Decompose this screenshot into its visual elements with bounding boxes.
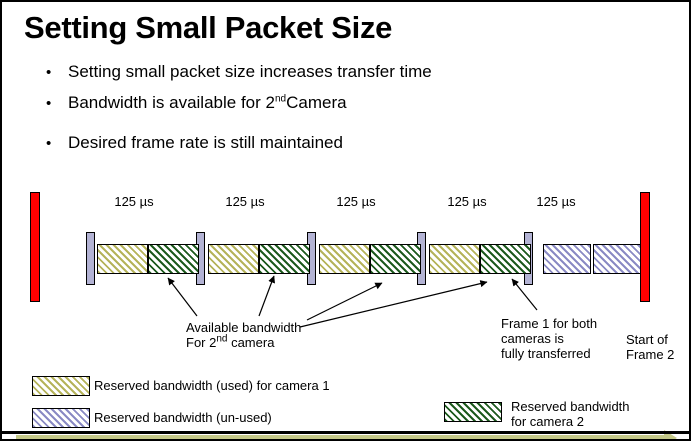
callout-line-2: cameras is (501, 331, 597, 346)
interval-label-3: 125 µs (320, 194, 392, 209)
bullet-text: Setting small packet size increases tran… (68, 62, 432, 82)
legend-divider (2, 431, 689, 434)
legend-label-line-1: Reserved bandwidth (511, 399, 630, 414)
bullet-marker: • (46, 64, 68, 81)
bullet-item-2: •Bandwidth is available for 2nd Camera (46, 93, 347, 113)
interval-label-4: 125 µs (431, 194, 503, 209)
legend-swatch-khaki (32, 376, 90, 396)
interval-label-1: 125 µs (98, 194, 170, 209)
packet-block-reserved-cam1 (319, 244, 370, 274)
frame-start-marker-1 (30, 192, 40, 302)
packet-block-reserved-cam2 (259, 244, 310, 274)
frame-start-marker-2 (640, 192, 650, 302)
callout-available-bandwidth: Available bandwidth For 2nd camera (186, 320, 301, 350)
interval-label-2: 125 µs (209, 194, 281, 209)
bullet-marker: • (46, 135, 68, 152)
packet-block-reserved-cam2 (480, 244, 531, 274)
ordinal-suffix: nd (275, 93, 286, 104)
bullet-text-before: Bandwidth is available for 2 (68, 93, 275, 113)
legend-swatch-blue (32, 408, 90, 428)
ordinal-suffix: nd (216, 334, 227, 345)
packet-boundary-1 (86, 232, 95, 285)
callout-line-1: Frame 1 for both (501, 316, 597, 331)
page-title: Setting Small Packet Size (24, 10, 392, 46)
packet-block-reserved-cam2 (148, 244, 199, 274)
legend-label-line-2: for camera 2 (511, 414, 584, 429)
callout-line-1: Available bandwidth (186, 320, 301, 335)
callout-line-2: Frame 2 (626, 347, 674, 362)
bullet-text: Desired frame rate is still maintained (68, 133, 343, 153)
callout-line-2-before: For 2 (186, 335, 216, 350)
legend-swatch-green (444, 402, 502, 422)
packet-block-reserved-cam1 (208, 244, 259, 274)
callout-frame1-transferred: Frame 1 for both cameras is fully transf… (501, 316, 597, 361)
legend-label: Reserved bandwidth (used) for camera 1 (94, 378, 330, 393)
bullet-marker: • (46, 95, 68, 112)
packet-block-reserved-cam1 (97, 244, 148, 274)
packet-block-unused (543, 244, 591, 274)
bullet-text-after: Camera (286, 93, 346, 113)
timeline-diagram: 125 µs 125 µs 125 µs 125 µs 125 µs (2, 180, 689, 310)
legend-label: Reserved bandwidth (un-used) (94, 410, 272, 425)
callout-start-of-frame2: Start of Frame 2 (626, 332, 674, 362)
interval-label-5: 125 µs (520, 194, 592, 209)
bullet-item-1: •Setting small packet size increases tra… (46, 62, 432, 82)
bullet-item-3: •Desired frame rate is still maintained (46, 133, 343, 153)
packet-block-reserved-cam2 (370, 244, 421, 274)
callout-line-3: fully transferred (501, 346, 597, 361)
callout-line-2-after: camera (227, 335, 274, 350)
packet-block-unused (593, 244, 641, 274)
callout-line-1: Start of (626, 332, 674, 347)
slide-canvas: Setting Small Packet Size •Setting small… (0, 0, 691, 441)
packet-block-reserved-cam1 (429, 244, 480, 274)
callout-line-2: For 2nd camera (186, 335, 301, 350)
